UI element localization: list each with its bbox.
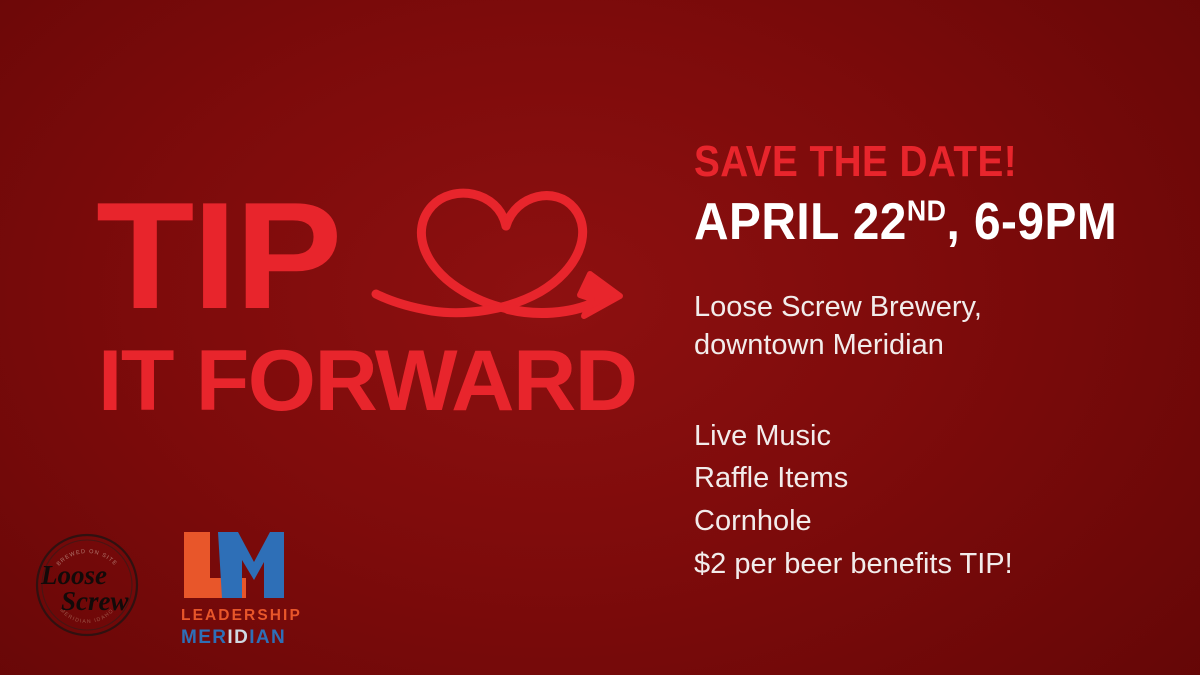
tip-wordmark: TIP: [96, 180, 340, 332]
lm-leadership-text: LEADERSHIP: [181, 607, 294, 625]
save-the-date-headline: SAVE THE DATE!: [694, 140, 1108, 184]
venue-line-1: Loose Screw Brewery,: [694, 288, 1164, 326]
loose-screw-logo: BREWED ON SITE MERIDIAN IDAHO Loose Scre…: [28, 526, 146, 644]
lm-meridian-prefix: MER: [181, 627, 227, 648]
loose-screw-script-line-2: Screw: [61, 586, 129, 616]
event-date-headline: APRIL 22ND, 6-9PM: [694, 196, 1126, 248]
lm-monogram-icon: [180, 528, 288, 602]
event-feature-list: Live Music Raffle Items Cornhole $2 per …: [694, 415, 1164, 587]
lm-meridian-suffix: IAN: [249, 627, 286, 648]
list-item: $2 per beer benefits TIP!: [694, 543, 1164, 586]
heart-arrow-icon: [358, 182, 638, 342]
sponsor-logo-row: BREWED ON SITE MERIDIAN IDAHO Loose Scre…: [22, 520, 322, 645]
event-date-main: APRIL 22: [694, 193, 907, 251]
poster-canvas: TIP IT FORWARD SAVE THE DATE! APRIL 22ND…: [0, 0, 1200, 675]
lm-meridian-highlight: ID: [227, 627, 249, 648]
lm-meridian-text: MERIDIAN: [181, 627, 294, 649]
venue-line-2: downtown Meridian: [694, 326, 1164, 364]
it-forward-wordmark: IT FORWARD: [98, 338, 637, 424]
list-item: Raffle Items: [694, 457, 1164, 500]
leadership-meridian-logo: LEADERSHIP MERIDIAN: [174, 528, 294, 646]
event-date-ordinal: ND: [907, 196, 947, 228]
event-date-time: , 6-9PM: [946, 193, 1117, 251]
venue-block: Loose Screw Brewery, downtown Meridian: [694, 288, 1164, 365]
event-details: SAVE THE DATE! APRIL 22ND, 6-9PM Loose S…: [694, 140, 1164, 586]
list-item: Cornhole: [694, 500, 1164, 543]
list-item: Live Music: [694, 415, 1164, 458]
brand-lockup: TIP IT FORWARD: [96, 186, 636, 416]
